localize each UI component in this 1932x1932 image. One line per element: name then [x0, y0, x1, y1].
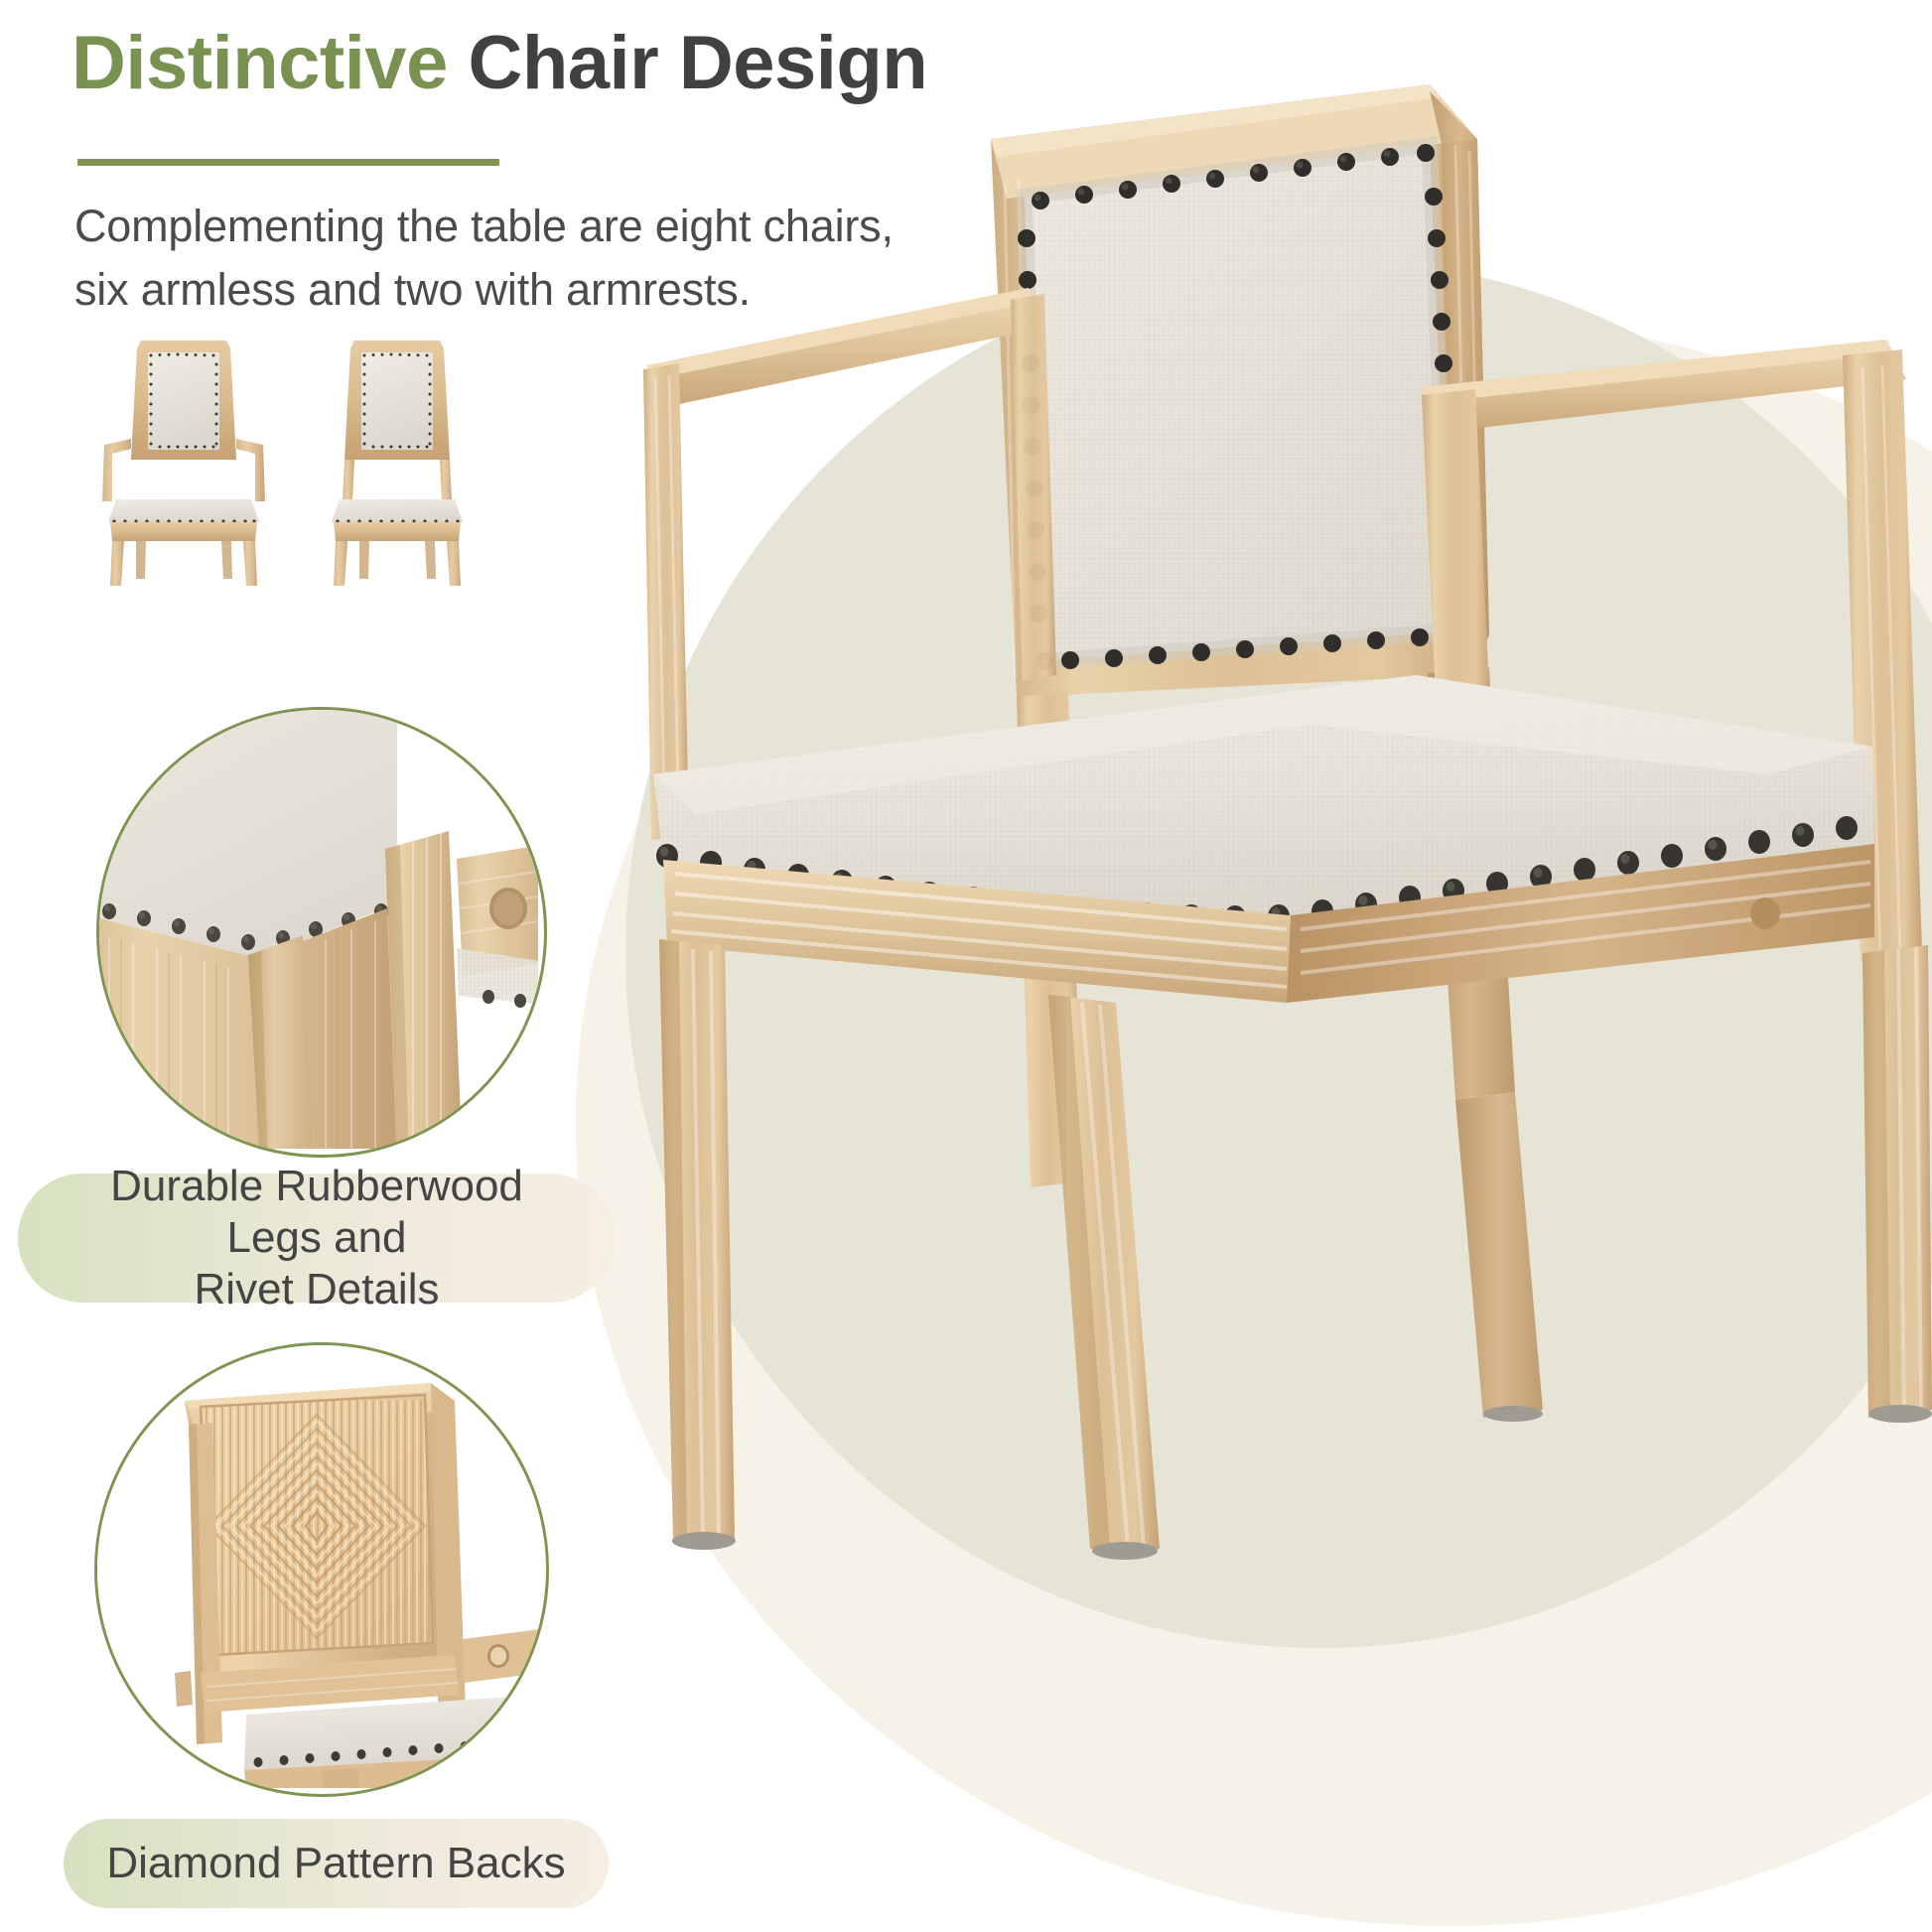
detail-circle-diamond: [94, 1342, 549, 1797]
label-pill-diamond-text: Diamond Pattern Backs: [106, 1840, 565, 1887]
page-subtitle: Complementing the table are eight chairs…: [74, 195, 948, 322]
label-pill-rivets-text: Durable Rubberwood Legs and Rivet Detail…: [58, 1161, 576, 1315]
label-pill-diamond: Diamond Pattern Backs: [64, 1819, 609, 1908]
floor-glide-icon: [1483, 1406, 1543, 1422]
thumb-chair-armless: [332, 341, 463, 586]
main-armchair-photo: [616, 79, 1932, 1866]
page-title: Distinctive Chair Design: [71, 26, 927, 101]
detail-circle-rivets: [96, 707, 547, 1158]
rear-leg-right: [1455, 1092, 1543, 1418]
floor-glide-icon: [1092, 1542, 1158, 1560]
floor-glide-icon: [672, 1532, 736, 1550]
infographic-canvas: Distinctive Chair Design Complementing t…: [0, 0, 1932, 1932]
title-rest-words: Chair Design: [448, 21, 927, 105]
chair-pair-thumbnails: [94, 333, 521, 586]
floor-glide-icon: [1868, 1405, 1932, 1423]
title-accent-word: Distinctive: [71, 21, 448, 105]
label-pill-rivets: Durable Rubberwood Legs and Rivet Detail…: [18, 1173, 616, 1303]
rear-stretcher: [322, 1768, 359, 1788]
dowel-plug-icon: [1750, 897, 1780, 929]
arm-support-left: [643, 363, 689, 840]
thumb-chair-with-armrests: [102, 341, 265, 586]
title-underline-rule: [77, 159, 499, 166]
